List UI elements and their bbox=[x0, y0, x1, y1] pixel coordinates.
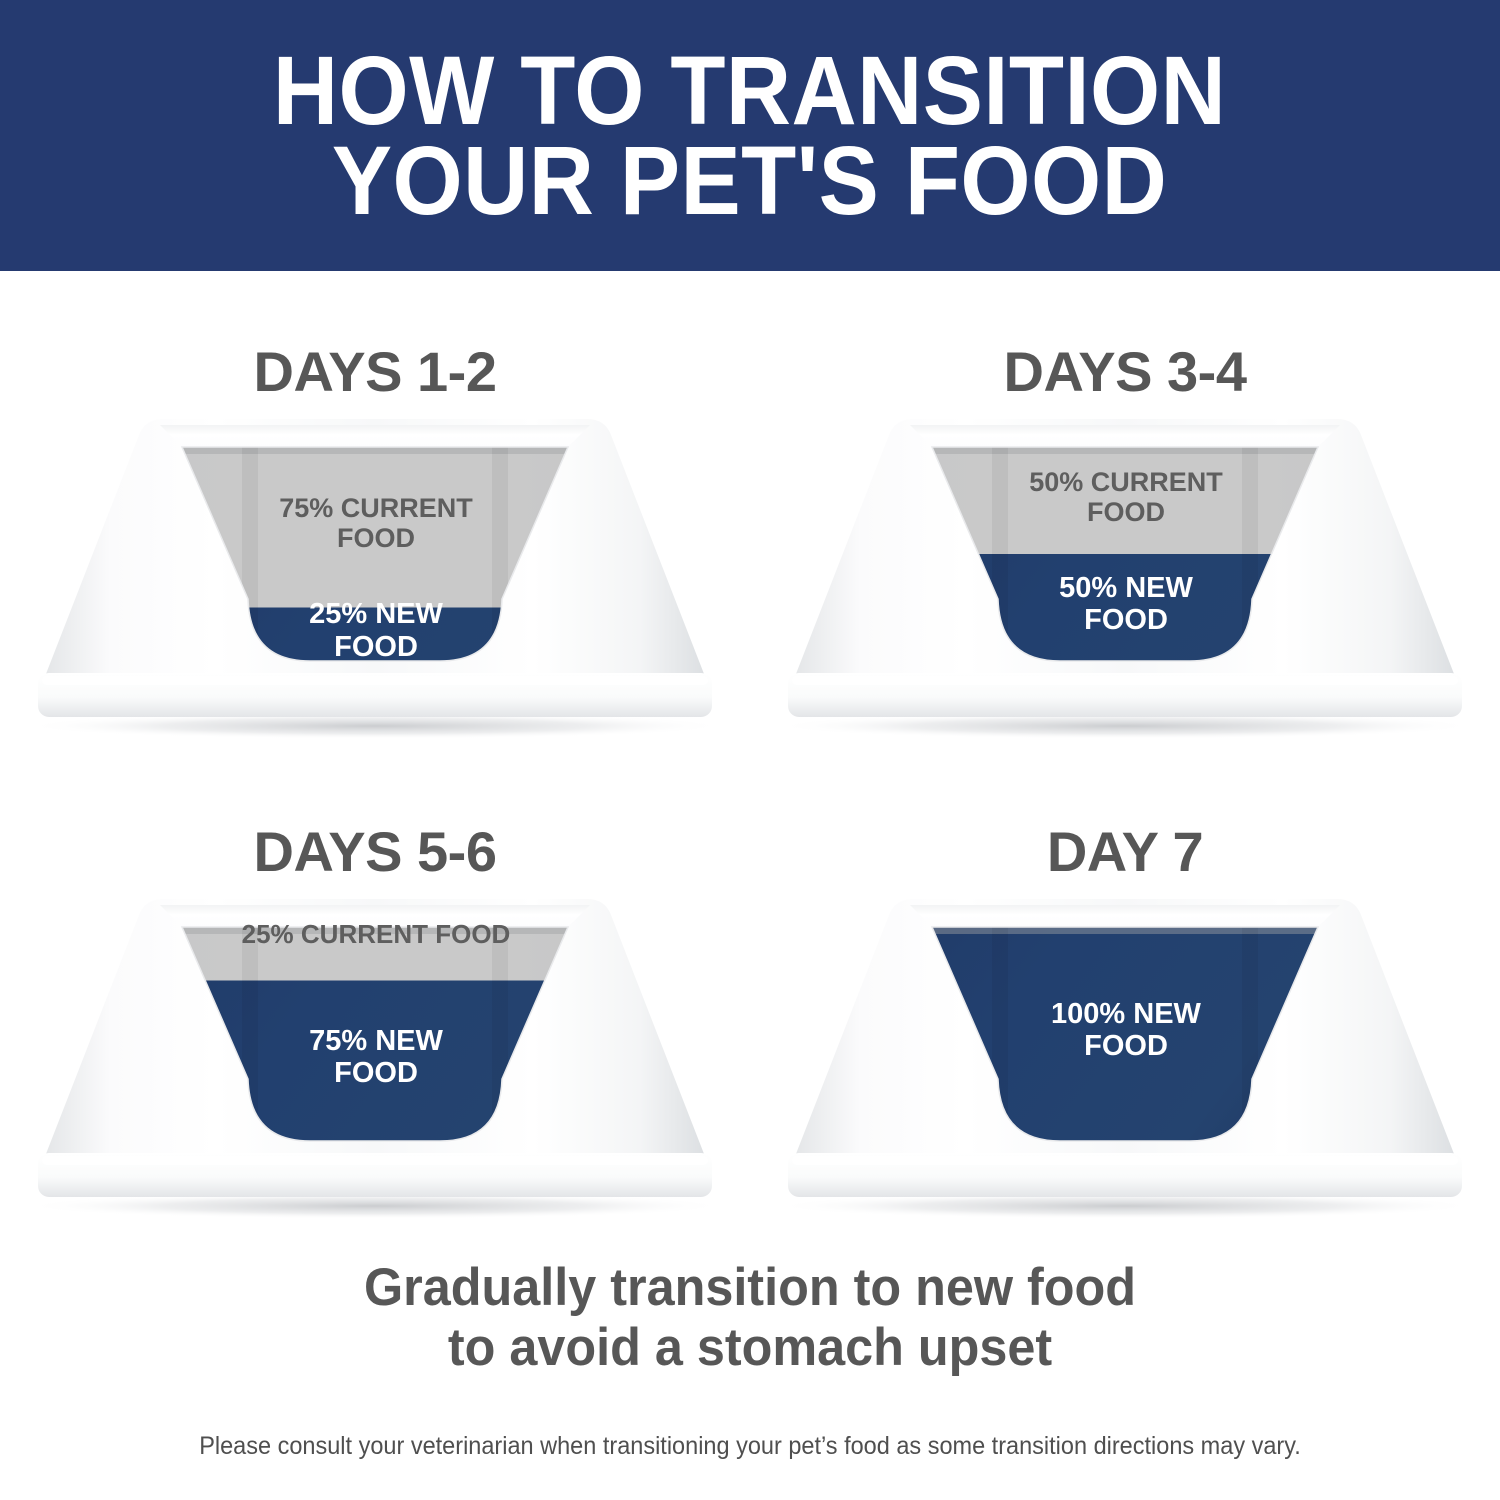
disclaimer-text: Please consult your veterinarian when tr… bbox=[45, 1432, 1455, 1461]
page-title: HOW TO TRANSITION YOUR PET'S FOOD bbox=[273, 46, 1226, 224]
step-title: DAYS 3-4 bbox=[750, 339, 1500, 404]
pet-bowl-days-3-4: 50% CURRENTFOOD50% NEWFOOD bbox=[766, 411, 1484, 741]
bowl-base-highlight bbox=[792, 1156, 1458, 1165]
food-surface-shadow bbox=[16, 447, 734, 454]
header-banner: HOW TO TRANSITION YOUR PET'S FOOD bbox=[0, 0, 1500, 271]
pet-bowl-days-5-6: 25% CURRENT FOOD75% NEWFOOD bbox=[16, 891, 734, 1221]
step-panel-days-1-2: DAYS 1-2 bbox=[0, 271, 750, 751]
bowl-graphic bbox=[16, 411, 734, 741]
transition-steps-grid: DAYS 1-2 bbox=[0, 271, 1500, 1231]
infographic-page: HOW TO TRANSITION YOUR PET'S FOOD DAYS 1… bbox=[0, 0, 1500, 1500]
bowl-base-highlight bbox=[42, 1156, 708, 1165]
step-title: DAYS 5-6 bbox=[0, 819, 750, 884]
pet-bowl-day-7: 100% NEWFOOD bbox=[766, 891, 1484, 1221]
pet-bowl-days-1-2: 75% CURRENTFOOD25% NEWFOOD bbox=[16, 411, 734, 741]
step-panel-days-3-4: DAYS 3-4 bbox=[750, 271, 1500, 751]
bowl-base-highlight bbox=[42, 676, 708, 685]
bowl-rim bbox=[160, 905, 590, 927]
bowl-rim bbox=[910, 905, 1340, 927]
bowl-graphic bbox=[766, 411, 1484, 741]
bowl-graphic bbox=[16, 891, 734, 1221]
step-panel-day-7: DAY 7 bbox=[750, 751, 1500, 1231]
tagline: Gradually transition to new food to avoi… bbox=[38, 1258, 1463, 1378]
food-surface-shadow bbox=[766, 447, 1484, 454]
step-panel-days-5-6: DAYS 5-6 bbox=[0, 751, 750, 1231]
step-title: DAY 7 bbox=[750, 819, 1500, 884]
food-surface-shadow bbox=[766, 927, 1484, 934]
bowl-graphic bbox=[766, 891, 1484, 1221]
bowl-base-highlight bbox=[792, 676, 1458, 685]
step-title: DAYS 1-2 bbox=[0, 339, 750, 404]
food-surface-shadow bbox=[16, 927, 734, 934]
bowl-rim bbox=[910, 425, 1340, 447]
bowl-rim bbox=[160, 425, 590, 447]
